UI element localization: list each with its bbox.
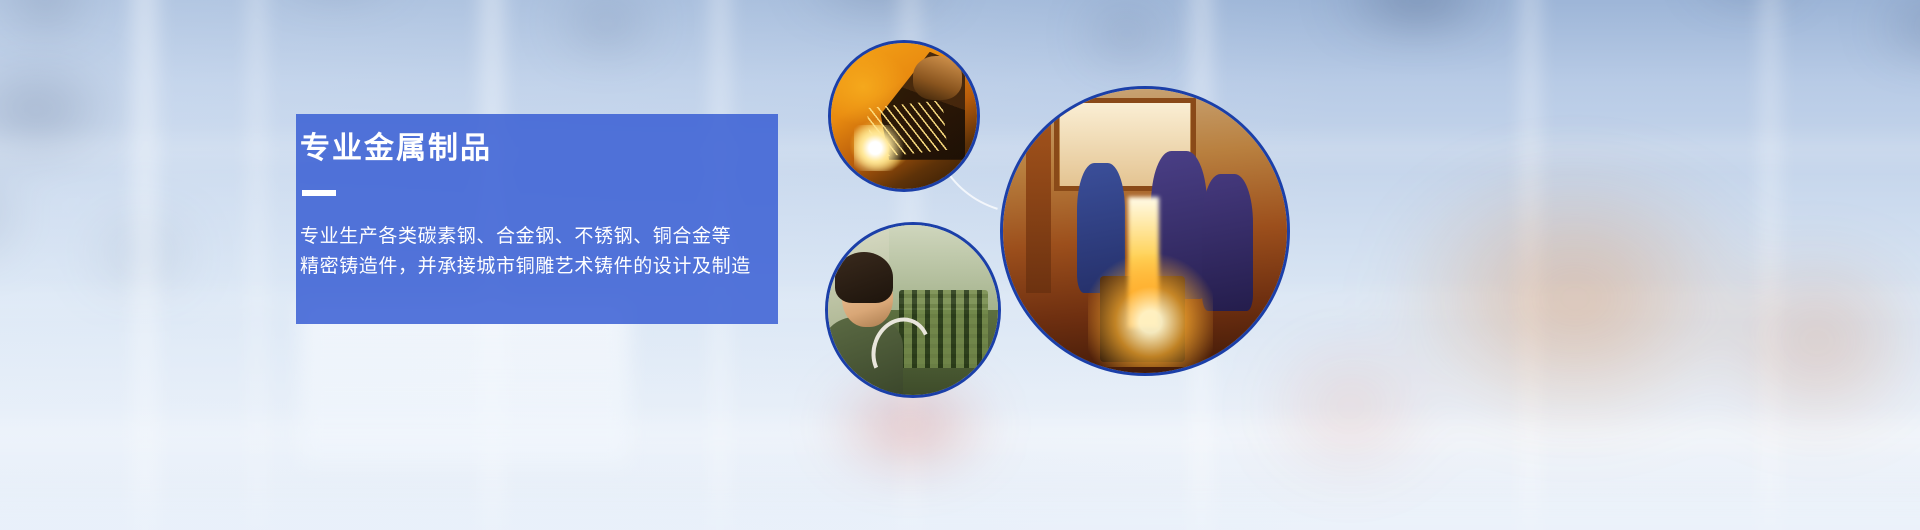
welding-sparks-photo bbox=[828, 40, 980, 192]
headline-divider bbox=[302, 190, 336, 196]
molten-metal-glow bbox=[1088, 254, 1213, 368]
female-worker-inspection-photo bbox=[825, 222, 1001, 398]
foundry-molten-pour-photo bbox=[1000, 86, 1290, 376]
worker-hair bbox=[835, 252, 893, 303]
foundry-pillar bbox=[1026, 95, 1052, 294]
welding-worker-head bbox=[913, 56, 963, 100]
welding-spark-flare bbox=[854, 125, 907, 172]
hero-banner: 专业金属制品 专业生产各类碳素钢、合金钢、不锈钢、铜合金等 精密铸造件，并承接城… bbox=[0, 0, 1920, 530]
